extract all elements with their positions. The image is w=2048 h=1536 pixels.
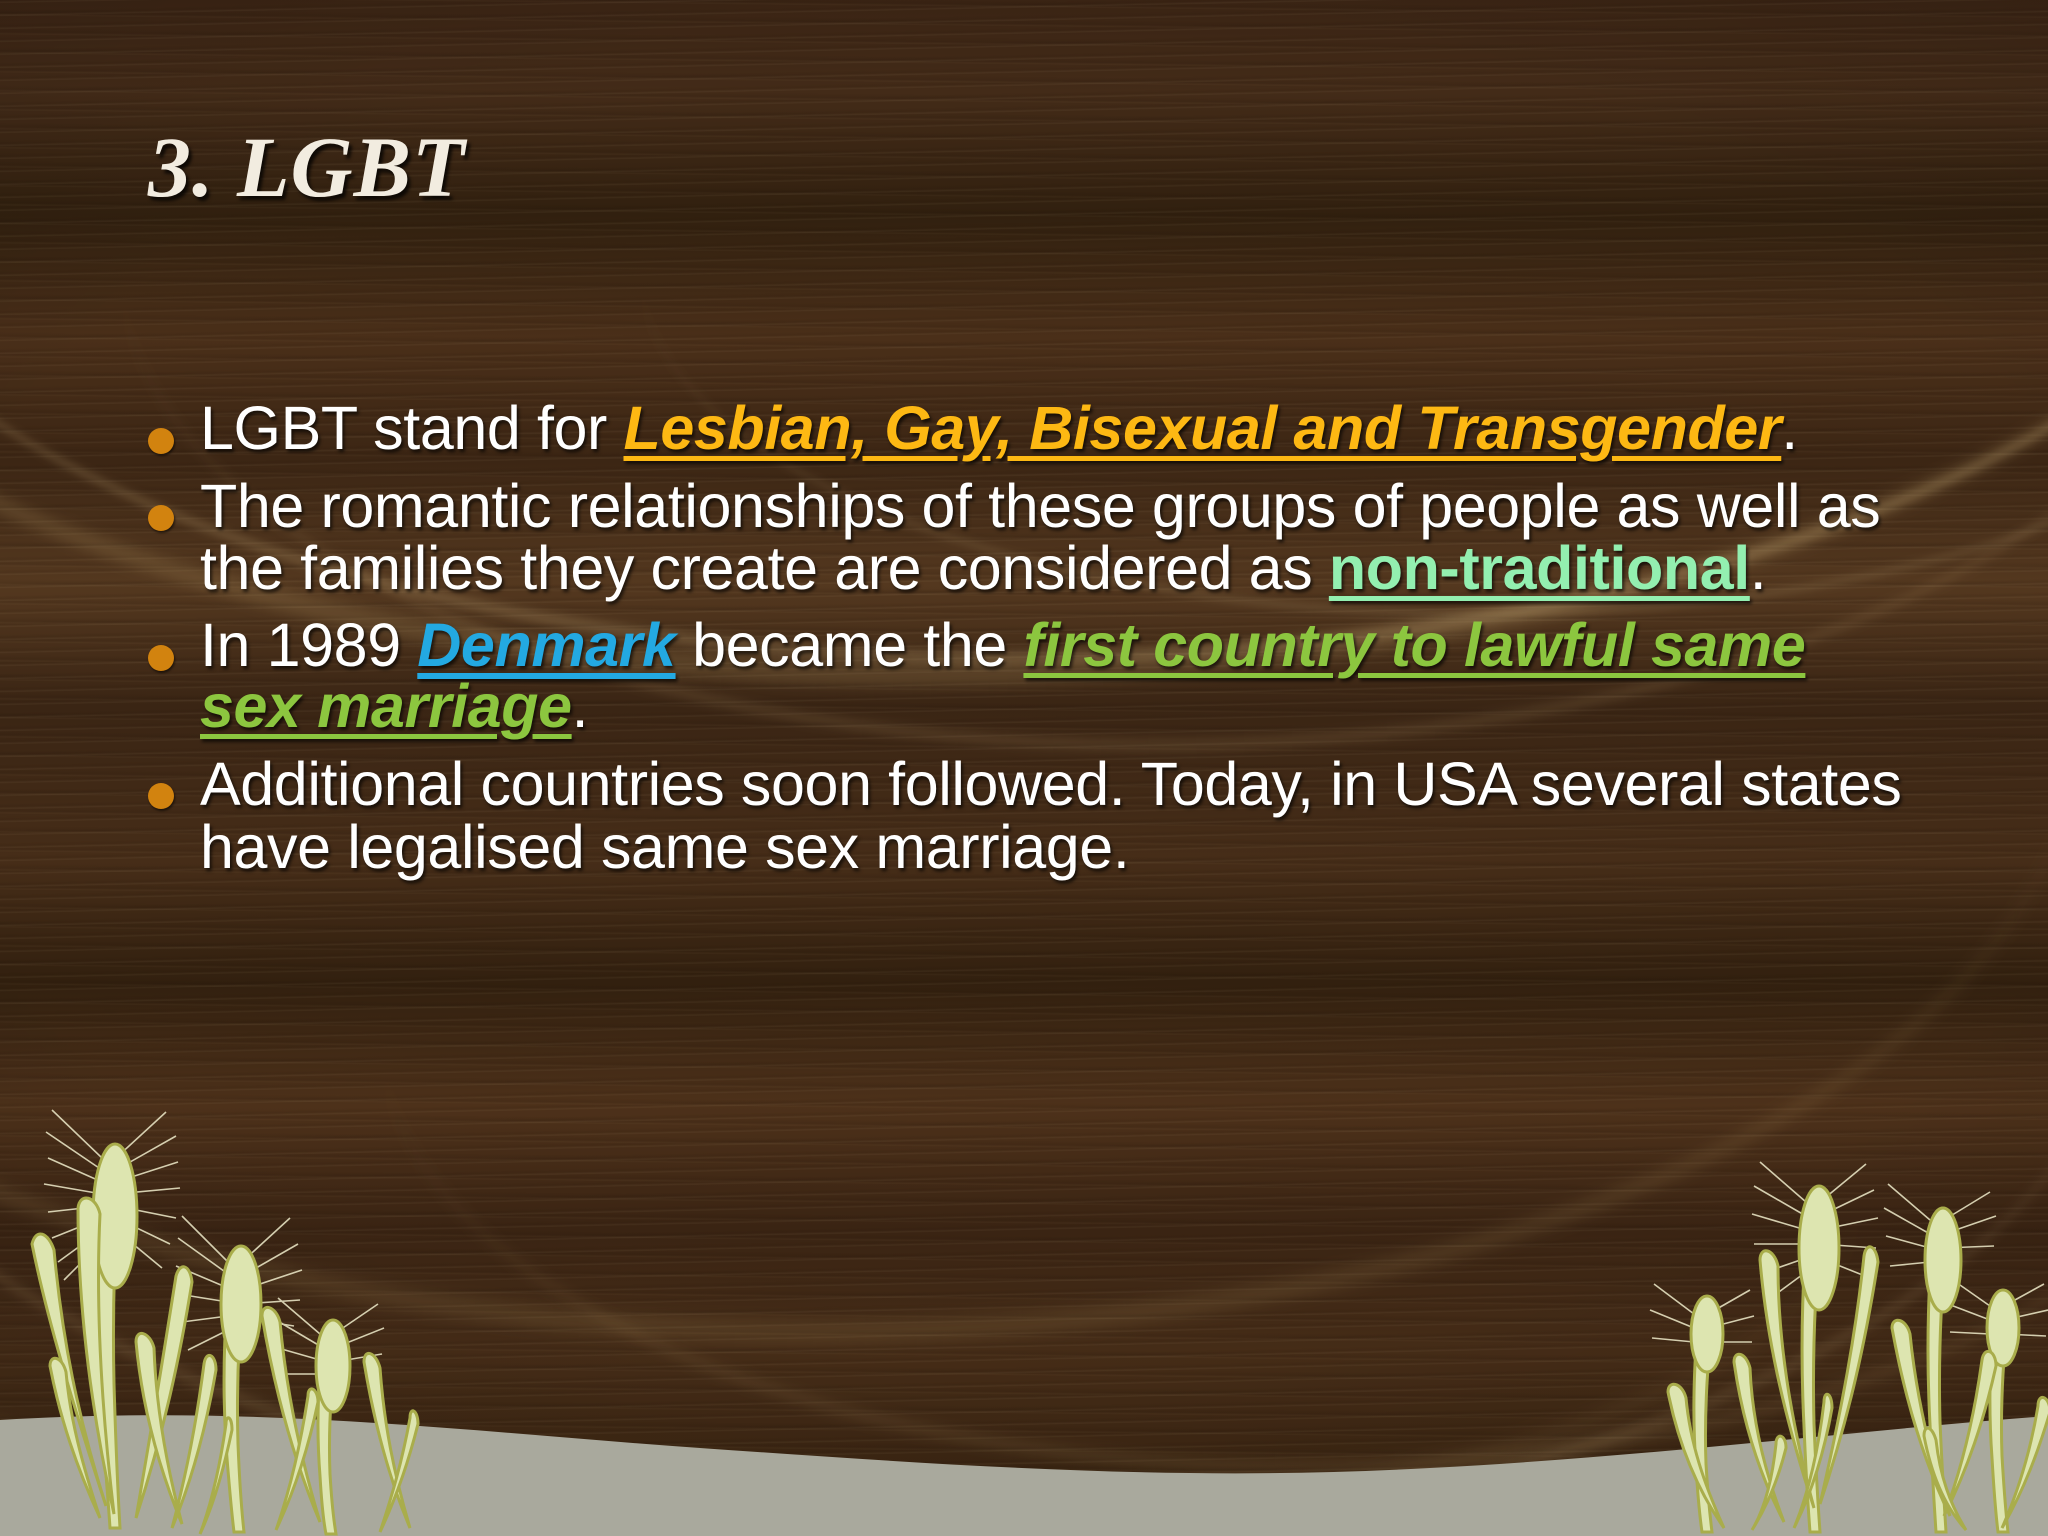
- bullet-item-1: LGBT stand for Lesbian, Gay, Bisexual an…: [148, 398, 1908, 471]
- bullet-dot-icon: [148, 783, 174, 809]
- bullet-3-plain-mid: became the: [676, 611, 1024, 679]
- presentation-slide: 3. LGBT LGBT stand for Lesbian, Gay, Bis…: [0, 0, 2048, 1536]
- bullet-text-2: The romantic relationships of these grou…: [200, 475, 1908, 611]
- bullet-text-1: LGBT stand for Lesbian, Gay, Bisexual an…: [200, 398, 1908, 471]
- bullet-4-plain: Additional countries soon followed. Toda…: [200, 750, 1901, 880]
- slide-title: 3. LGBT: [148, 122, 466, 212]
- bullet-2-period: .: [1750, 534, 1767, 602]
- bullet-1-gold-emphasis: Lesbian, Gay, Bisexual and Transgender: [623, 394, 1781, 462]
- bullet-text-4: Additional countries soon followed. Toda…: [200, 753, 1908, 889]
- bullet-1-period: .: [1781, 394, 1798, 462]
- bullet-3-cyan-emphasis: Denmark: [417, 611, 675, 679]
- bullet-item-4: Additional countries soon followed. Toda…: [148, 753, 1908, 889]
- bullet-item-3: In 1989 Denmark became the first country…: [148, 615, 1908, 749]
- bullet-3-period: .: [572, 672, 589, 740]
- bullet-item-2: The romantic relationships of these grou…: [148, 475, 1908, 611]
- bullet-dot-icon: [148, 505, 174, 531]
- ground-strip: [0, 1386, 2048, 1536]
- bullet-dot-icon: [148, 428, 174, 454]
- bullet-2-mint-emphasis: non-traditional: [1329, 534, 1750, 602]
- bullet-3-plain-prefix: In 1989: [200, 611, 417, 679]
- slide-body: LGBT stand for Lesbian, Gay, Bisexual an…: [148, 398, 1908, 894]
- bullet-text-3: In 1989 Denmark became the first country…: [200, 615, 1908, 749]
- bullet-1-plain-prefix: LGBT stand for: [200, 394, 623, 462]
- bullet-dot-icon: [148, 645, 174, 671]
